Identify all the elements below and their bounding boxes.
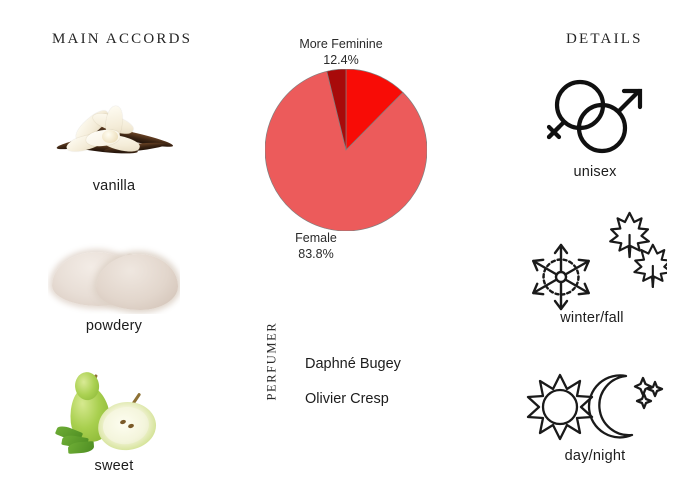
vanilla-image — [48, 92, 180, 174]
accord-label-vanilla: vanilla — [48, 178, 180, 194]
pie-label-more-feminine-percent: 12.4% — [299, 52, 382, 68]
pear-image — [48, 372, 180, 454]
pie-label-more-feminine: More Feminine 12.4% — [299, 36, 382, 68]
pie-label-female-name: Female — [295, 230, 337, 246]
detail-item-winter-fall: winter/fall — [512, 208, 672, 326]
snowflake-leaves-icon — [512, 208, 672, 308]
detail-item-day-night: day/night — [515, 368, 675, 464]
detail-item-unisex: unisex — [515, 74, 675, 180]
accord-label-sweet: sweet — [48, 458, 180, 474]
accord-label-powdery: powdery — [48, 318, 180, 334]
pie-label-female-percent: 83.8% — [295, 246, 337, 262]
detail-label-unisex: unisex — [515, 164, 675, 180]
detail-label-day-night: day/night — [515, 448, 675, 464]
accord-item-powdery: powdery — [48, 232, 180, 334]
gender-pie-chart — [265, 69, 427, 231]
pie-label-more-feminine-name: More Feminine — [299, 36, 382, 52]
perfumer-heading: PERFUMER — [265, 331, 280, 401]
accord-item-sweet: sweet — [48, 372, 180, 474]
perfumer-name[interactable]: Olivier Cresp — [305, 391, 389, 407]
powdery-image — [48, 232, 180, 314]
details-header: DETAILS — [566, 31, 643, 48]
sun-moon-icon — [515, 368, 675, 446]
perfumer-name[interactable]: Daphné Bugey — [305, 356, 401, 372]
accord-item-vanilla: vanilla — [48, 92, 180, 194]
pie-chart-svg — [265, 69, 427, 231]
pie-label-female: Female 83.8% — [295, 230, 337, 262]
detail-label-winter-fall: winter/fall — [512, 310, 672, 326]
perfumer-section: PERFUMER Daphné Bugey Olivier Cresp — [255, 340, 465, 420]
unisex-gender-icon — [515, 74, 675, 162]
main-accords-header: MAIN ACCORDS — [52, 31, 192, 48]
